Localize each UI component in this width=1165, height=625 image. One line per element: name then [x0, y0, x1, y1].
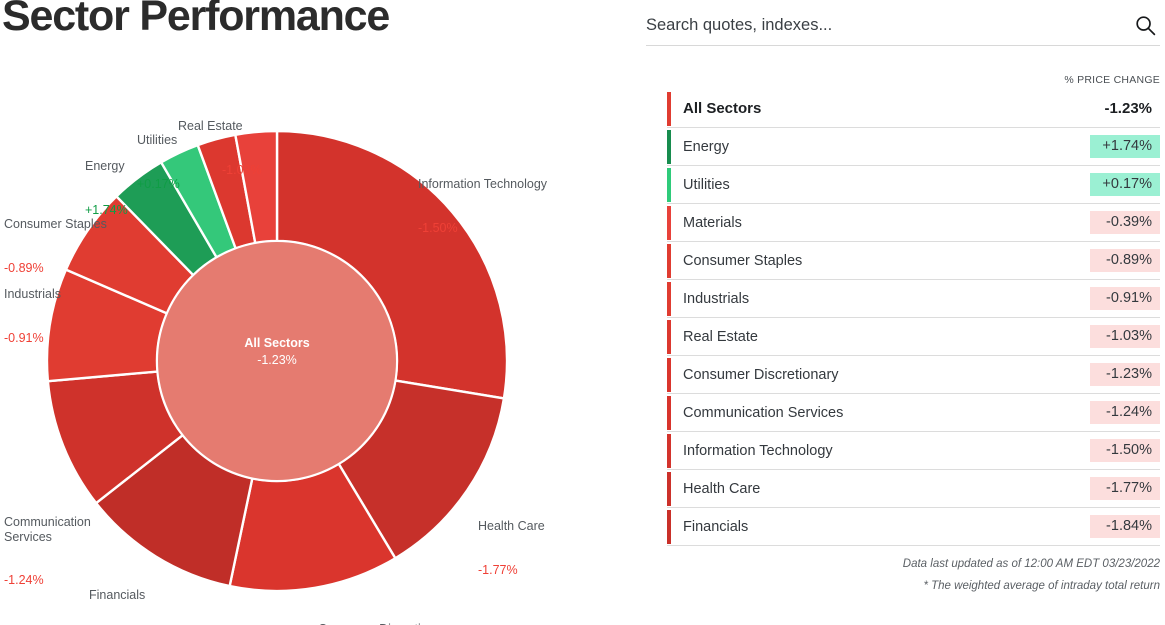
row-price-change: -0.91% — [1090, 287, 1160, 310]
search-bar[interactable] — [646, 6, 1160, 46]
donut-center-label: All Sectors — [244, 336, 309, 350]
quotes-pane: % PRICE CHANGE All Sectors-1.23%Energy+1… — [646, 0, 1165, 625]
row-color-bar — [667, 472, 671, 506]
row-color-bar — [667, 320, 671, 354]
slice-label-information-technology: Information Technology -1.50% — [418, 148, 547, 264]
table-row[interactable]: Financials-1.84% — [667, 508, 1160, 546]
table-row[interactable]: Industrials-0.91% — [667, 280, 1160, 318]
slice-label-communication-services: Communication Services -1.24% — [4, 486, 91, 617]
row-sector-name: Health Care — [683, 481, 760, 497]
sector-table: All Sectors-1.23%Energy+1.74%Utilities+0… — [667, 90, 1160, 546]
row-price-change: +0.17% — [1090, 173, 1160, 196]
row-sector-name: All Sectors — [683, 100, 761, 117]
table-row[interactable]: Energy+1.74% — [667, 128, 1160, 166]
row-price-change: -1.03% — [1090, 325, 1160, 348]
row-price-change: -1.84% — [1090, 515, 1160, 538]
table-row[interactable]: Consumer Discretionary-1.23% — [667, 356, 1160, 394]
row-color-bar — [667, 282, 671, 316]
slice-label-real-estate: Real Estate -1.03% — [178, 90, 262, 206]
footnote-disclaimer: * The weighted average of intraday total… — [667, 575, 1160, 597]
row-color-bar — [667, 168, 671, 202]
slice-label-utilities: Utilities +0.17% — [137, 104, 180, 220]
slice-label-energy: Energy +1.74% — [85, 130, 128, 246]
slice-label-consumer-discretionary: Consumer Discretionary -1.23% — [318, 593, 452, 625]
row-price-change: -0.39% — [1090, 211, 1160, 234]
row-price-change: -1.23% — [1090, 97, 1160, 121]
table-row[interactable]: Information Technology-1.50% — [667, 432, 1160, 470]
row-price-change: +1.74% — [1090, 135, 1160, 158]
table-column-header: % PRICE CHANGE — [667, 74, 1160, 86]
table-row[interactable]: Consumer Staples-0.89% — [667, 242, 1160, 280]
slice-label-financials: Financials -1.84% — [89, 559, 145, 625]
table-row[interactable]: Materials-0.39% — [667, 204, 1160, 242]
row-color-bar — [667, 358, 671, 392]
row-price-change: -1.23% — [1090, 363, 1160, 386]
table-row[interactable]: Real Estate-1.03% — [667, 318, 1160, 356]
page-title: Sector Performance — [2, 0, 389, 41]
donut-center-value: -1.23% — [257, 353, 297, 367]
footnotes: Data last updated as of 12:00 AM EDT 03/… — [667, 553, 1160, 597]
row-sector-name: Information Technology — [683, 443, 833, 459]
row-sector-name: Real Estate — [683, 329, 758, 345]
row-sector-name: Consumer Discretionary — [683, 367, 839, 383]
row-price-change: -0.89% — [1090, 249, 1160, 272]
footnote-updated: Data last updated as of 12:00 AM EDT 03/… — [667, 553, 1160, 575]
row-color-bar — [667, 206, 671, 240]
row-sector-name: Financials — [683, 519, 748, 535]
row-sector-name: Utilities — [683, 177, 730, 193]
row-sector-name: Materials — [683, 215, 742, 231]
row-color-bar — [667, 434, 671, 468]
row-color-bar — [667, 510, 671, 544]
row-sector-name: Consumer Staples — [683, 253, 802, 269]
row-sector-name: Industrials — [683, 291, 749, 307]
row-color-bar — [667, 130, 671, 164]
table-row-total[interactable]: All Sectors-1.23% — [667, 90, 1160, 128]
search-input[interactable] — [646, 16, 1132, 35]
table-row[interactable]: Health Care-1.77% — [667, 470, 1160, 508]
row-sector-name: Communication Services — [683, 405, 843, 421]
row-color-bar — [667, 92, 671, 126]
slice-label-health-care: Health Care -1.77% — [478, 490, 545, 606]
row-color-bar — [667, 396, 671, 430]
chart-pane: Sector Performance All Sectors -1.23% In… — [0, 0, 620, 625]
sector-performance-page: Sector Performance All Sectors -1.23% In… — [0, 0, 1165, 625]
row-price-change: -1.24% — [1090, 401, 1160, 424]
search-icon[interactable] — [1132, 13, 1158, 39]
row-sector-name: Energy — [683, 139, 729, 155]
row-price-change: -1.77% — [1090, 477, 1160, 500]
table-row[interactable]: Communication Services-1.24% — [667, 394, 1160, 432]
row-color-bar — [667, 244, 671, 278]
table-row[interactable]: Utilities+0.17% — [667, 166, 1160, 204]
row-price-change: -1.50% — [1090, 439, 1160, 462]
donut-chart: All Sectors -1.23% Information Technolog… — [0, 46, 620, 625]
